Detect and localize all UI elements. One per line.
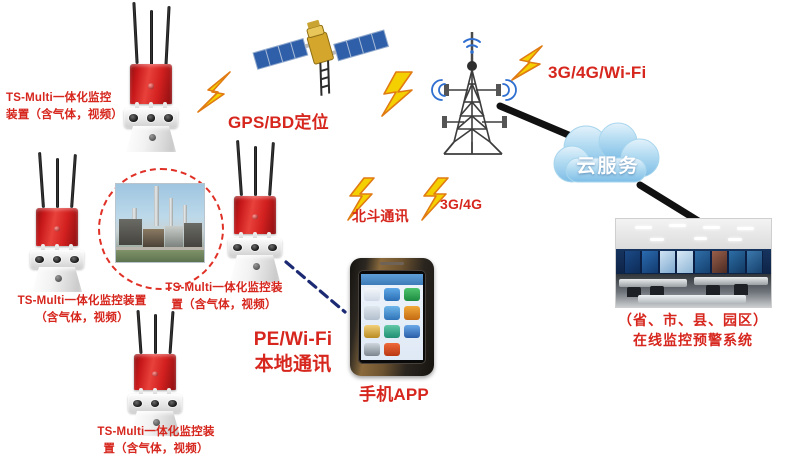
- sensor-port: [35, 256, 44, 263]
- operator-chair: [706, 285, 720, 296]
- ts-multi-device-3: [216, 140, 294, 282]
- device-base-cone: [32, 267, 82, 292]
- device-body: [234, 196, 276, 234]
- link-device-tablet-dashed: [286, 262, 345, 312]
- sensor-port: [133, 400, 142, 407]
- plant-building: [184, 223, 202, 246]
- plant-tank: [165, 226, 183, 246]
- app-icon[interactable]: [384, 288, 400, 302]
- device-body: [130, 64, 172, 104]
- video-panel: [712, 251, 727, 273]
- video-panel: [695, 251, 710, 273]
- phone-app-label: 手机APP: [348, 384, 440, 405]
- operator-chair: [734, 284, 748, 295]
- device-base-cone: [126, 126, 176, 152]
- device-base-cone: [230, 255, 280, 282]
- app-icon[interactable]: [404, 325, 420, 339]
- device-body: [134, 354, 176, 390]
- tablet-screen[interactable]: [361, 274, 423, 360]
- video-panel: [625, 251, 640, 273]
- antenna-icon: [164, 6, 170, 66]
- device-sensor-collar: [228, 238, 282, 257]
- app-grid[interactable]: [364, 288, 420, 357]
- antenna-icon: [70, 154, 77, 208]
- ceiling-light: [669, 224, 686, 227]
- antenna-icon: [132, 2, 138, 64]
- antenna-icon: [169, 311, 175, 354]
- video-panel: [677, 251, 692, 273]
- sensor-port: [168, 400, 177, 407]
- gps-label: GPS/BD定位: [228, 112, 329, 133]
- refinery-photo: [115, 183, 205, 263]
- ceiling-light: [694, 237, 708, 240]
- app-icon[interactable]: [384, 325, 400, 339]
- refinery-inset: [98, 168, 220, 286]
- signal-bolt-icon: [378, 70, 430, 122]
- app-icon[interactable]: [364, 288, 380, 302]
- diagram-canvas: TS-Multi一体化监控 装置（含气体，视频） TS-Multi一体化监控装置…: [0, 0, 797, 464]
- sensor-port: [151, 400, 160, 407]
- cloud-label: 云服务: [544, 151, 672, 178]
- rugged-tablet: [350, 258, 434, 376]
- antenna-icon: [38, 152, 45, 208]
- device-sensor-collar: [128, 394, 182, 413]
- sensor-port: [147, 114, 156, 122]
- wireless-label: 3G/4G/Wi-Fi: [548, 62, 646, 83]
- device-body: [36, 208, 78, 246]
- device-sensor-collar: [124, 108, 178, 128]
- app-icon-empty: [404, 343, 420, 357]
- control-room-photo: [615, 218, 772, 308]
- cloud-service-node: 云服务: [544, 118, 672, 196]
- app-icon[interactable]: [404, 306, 420, 320]
- front-desk: [638, 295, 747, 304]
- app-icon[interactable]: [364, 306, 380, 320]
- smokestack: [154, 186, 159, 226]
- video-panel: [660, 251, 675, 273]
- app-icon[interactable]: [404, 288, 420, 302]
- sensor-port: [251, 244, 260, 251]
- smokestack: [169, 198, 173, 229]
- sensor-port: [70, 256, 79, 263]
- satellite-icon: [252, 8, 392, 100]
- speaker-grill: [380, 262, 404, 265]
- device-label-bottom: TS-Multi一体化监控装 置（含气体，视频）: [78, 424, 234, 457]
- sensor-port: [268, 244, 277, 251]
- ts-multi-device-4: [116, 310, 194, 432]
- app-icon[interactable]: [364, 343, 380, 357]
- console-desk: [694, 277, 768, 285]
- antenna-icon: [150, 10, 153, 66]
- antenna-icon: [56, 158, 59, 208]
- tablet-bezel: [358, 270, 427, 364]
- app-icon[interactable]: [384, 343, 400, 357]
- site-grass: [116, 250, 204, 262]
- sensor-port: [164, 114, 173, 122]
- ceiling-light: [728, 238, 742, 241]
- video-panel: [729, 251, 744, 273]
- plant-building: [119, 219, 142, 245]
- antenna-icon: [236, 140, 243, 196]
- app-icon[interactable]: [364, 325, 380, 339]
- device-label-top-left: TS-Multi一体化监控 装置（含气体，视频）: [6, 90, 132, 123]
- mobile-3g4g-label: 3G/4G: [440, 196, 482, 214]
- plant-building: [143, 229, 164, 246]
- ceiling-light: [703, 226, 720, 229]
- antenna-icon: [268, 142, 275, 196]
- video-panel: [747, 251, 762, 273]
- sensor-port: [233, 244, 242, 251]
- antenna-icon: [154, 314, 157, 354]
- antenna-icon: [136, 310, 142, 354]
- screen-status-bar: [361, 274, 423, 285]
- ceiling-light: [635, 226, 652, 229]
- control-center-label: （省、市、县、园区） 在线监控预警系统: [600, 310, 786, 351]
- ceiling-light: [737, 227, 754, 230]
- antenna-icon: [254, 146, 257, 196]
- video-panel: [642, 251, 657, 273]
- ceiling-light: [650, 238, 664, 241]
- ts-multi-device-1: [112, 2, 190, 152]
- app-icon[interactable]: [384, 306, 400, 320]
- local-comm-label: PE/Wi-Fi 本地通讯: [234, 328, 352, 377]
- ceiling: [616, 219, 771, 249]
- video-wall: [624, 251, 764, 273]
- device-sensor-collar: [30, 250, 84, 269]
- sensor-port: [53, 256, 62, 263]
- ts-multi-device-2: [18, 152, 96, 292]
- beidou-label: 北斗通讯: [352, 208, 409, 226]
